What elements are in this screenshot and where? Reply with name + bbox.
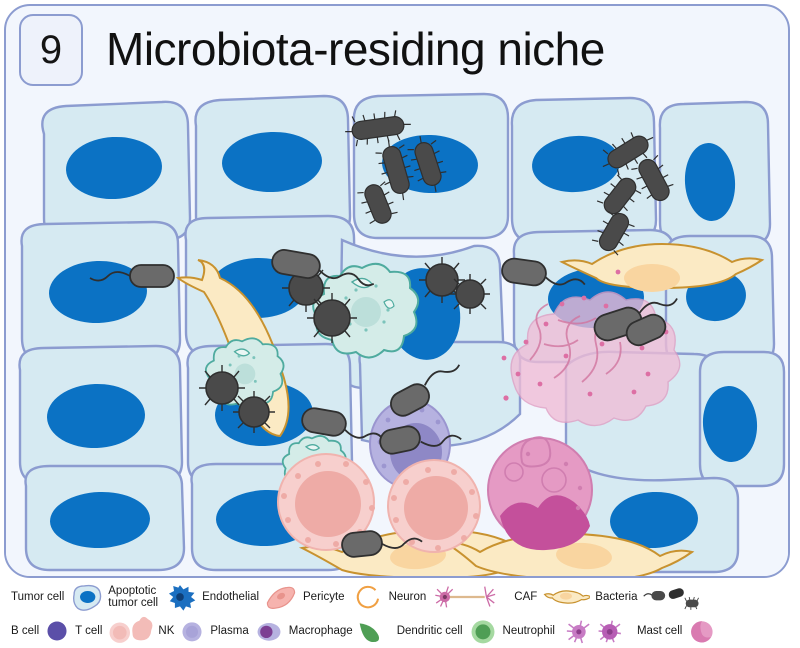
legend-item-neuron: Neuron bbox=[384, 580, 510, 614]
legend-label-apoptotic-tumor-cell: Apoptotic tumor cell bbox=[108, 585, 158, 610]
legend-label-pericyte: Pericyte bbox=[303, 591, 345, 603]
legend-item-neutrophil: Neutrophil bbox=[498, 614, 632, 648]
legend-label-mast-cell: Mast cell bbox=[637, 625, 682, 637]
legend-item-endothelial: Endothelial bbox=[197, 580, 298, 614]
legend-label-endothelial: Endothelial bbox=[202, 591, 259, 603]
endothelial-icon bbox=[264, 582, 298, 612]
dendritic-cell-icon bbox=[468, 616, 498, 646]
legend-label-caf: CAF bbox=[514, 591, 537, 603]
legend-label-t-cell: T cell bbox=[75, 625, 102, 637]
legend-row-2: B cell T cell NK Plasma bbox=[0, 614, 800, 648]
legend-label-plasma: Plasma bbox=[210, 625, 248, 637]
figure-number-badge: 9 bbox=[19, 14, 83, 86]
caf-icon bbox=[542, 582, 590, 612]
legend-label-nk: NK bbox=[158, 625, 174, 637]
legend-item-mast-cell: Mast cell bbox=[632, 614, 717, 648]
legend-row-1: Tumor cell Apoptotic tumor cell Endothel… bbox=[0, 580, 800, 614]
page-title: Microbiota-residing niche bbox=[106, 16, 746, 82]
pericyte-icon bbox=[350, 582, 384, 612]
legend-label-neuron: Neuron bbox=[389, 591, 427, 603]
legend-item-tumor-cell: Tumor cell bbox=[6, 580, 103, 614]
legend-item-bacteria: Bacteria bbox=[590, 580, 702, 614]
legend-item-nk: NK bbox=[153, 614, 205, 648]
figure-header: 9 Microbiota-residing niche bbox=[6, 6, 788, 92]
legend-label-dendritic-cell: Dendritic cell bbox=[397, 625, 463, 637]
neutrophil-icon bbox=[560, 616, 632, 646]
nk-icon bbox=[179, 616, 205, 646]
legend-label-b-cell: B cell bbox=[11, 625, 39, 637]
neuron-icon bbox=[431, 582, 509, 612]
figure-panel: 9 Microbiota-residing niche bbox=[4, 4, 790, 578]
legend-item-dendritic-cell: Dendritic cell bbox=[392, 614, 498, 648]
legend-item-macrophage: Macrophage bbox=[284, 614, 392, 648]
tumor-cell-icon bbox=[69, 582, 103, 612]
legend-label-macrophage: Macrophage bbox=[289, 625, 353, 637]
legend-item-apoptotic-tumor-cell: Apoptotic tumor cell bbox=[103, 580, 197, 614]
legend-item-plasma: Plasma bbox=[205, 614, 283, 648]
niche-illustration bbox=[6, 92, 790, 578]
legend: Tumor cell Apoptotic tumor cell Endothel… bbox=[0, 580, 800, 648]
mast-cell-icon-legend bbox=[687, 616, 717, 646]
legend-label-bacteria: Bacteria bbox=[595, 591, 637, 603]
legend-item-caf: CAF bbox=[509, 580, 590, 614]
legend-label-neutrophil: Neutrophil bbox=[503, 625, 555, 637]
t-cell-icon bbox=[107, 616, 153, 646]
legend-label-tumor-cell: Tumor cell bbox=[11, 591, 64, 603]
legend-item-pericyte: Pericyte bbox=[298, 580, 384, 614]
legend-item-b-cell: B cell bbox=[6, 614, 70, 648]
legend-item-t-cell: T cell bbox=[70, 614, 153, 648]
macrophage-icon bbox=[358, 616, 392, 646]
bacteria-icon bbox=[642, 582, 702, 612]
b-cell-icon bbox=[44, 616, 70, 646]
apoptotic-tumor-cell-icon bbox=[163, 582, 197, 612]
plasma-icon bbox=[254, 616, 284, 646]
